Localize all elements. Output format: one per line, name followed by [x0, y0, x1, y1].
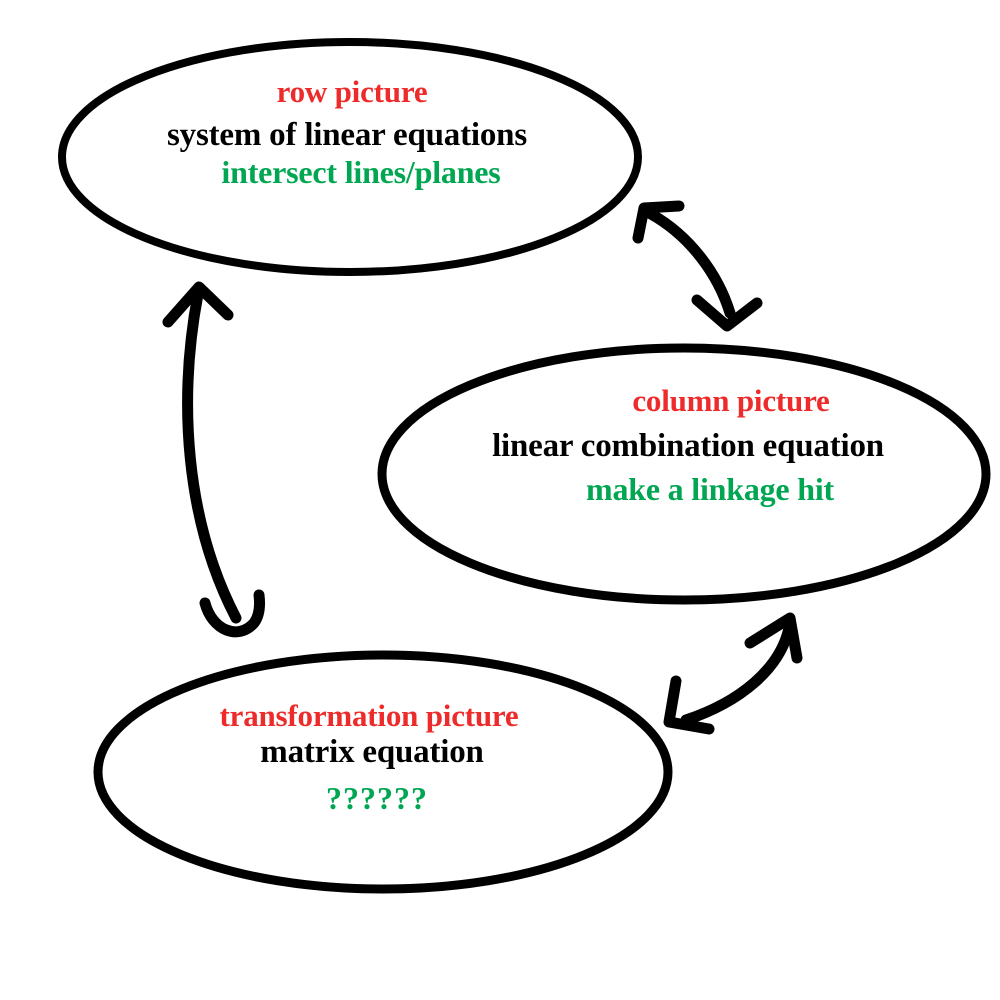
- connector-transformation-to-row[interactable]: [168, 287, 259, 632]
- connector-row-to-column[interactable]: [638, 206, 757, 326]
- connector-row-to-column-shaft: [651, 214, 730, 313]
- node-row-picture-title: row picture: [66, 76, 638, 109]
- node-transformation-picture-subtitle: matrix equation: [76, 735, 668, 770]
- node-transformation-picture-title: transformation picture: [70, 700, 668, 733]
- node-column-picture-title: column picture: [476, 385, 986, 418]
- node-row-picture-subtitle: system of linear equations: [56, 118, 638, 153]
- node-row-picture-note: intersect lines/planes: [84, 156, 638, 190]
- node-column-picture-subtitle: linear combination equation: [390, 429, 986, 464]
- node-row-picture-text: row picture system of linear equations i…: [62, 76, 638, 190]
- connector-transformation-to-row-shaft: [188, 294, 236, 618]
- node-transformation-picture-note: ??????: [86, 782, 668, 816]
- connector-column-to-transformation-head-lower: [669, 681, 709, 729]
- node-column-picture-note: make a linkage hit: [434, 473, 986, 507]
- diagram-canvas: row picture system of linear equations i…: [0, 0, 1000, 1000]
- node-transformation-picture-text: transformation picture matrix equation ?…: [98, 700, 668, 816]
- connector-column-to-transformation-shaft: [686, 628, 789, 720]
- node-column-picture-text: column picture linear combination equati…: [382, 385, 986, 507]
- connector-column-to-transformation[interactable]: [669, 618, 797, 729]
